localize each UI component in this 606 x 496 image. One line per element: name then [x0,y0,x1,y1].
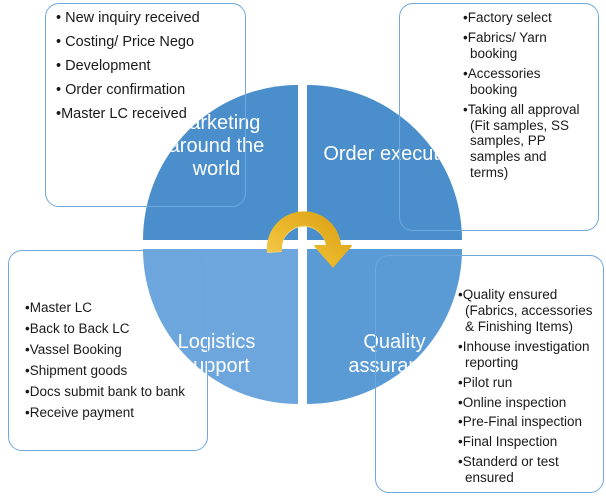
list-item: •Master LC [25,300,199,316]
callout-logistics-support[interactable]: •Master LC •Back to Back LC •Vassel Book… [8,250,208,451]
list-item: •Shipment goods [25,363,199,379]
list-item: •Standerd or test ensured [458,454,595,486]
list-item: • Costing/ Price Nego [56,34,237,51]
callout-logistics-support-list: •Master LC •Back to Back LC •Vassel Book… [9,251,207,421]
callout-quality-assurance-list: •Quality ensured (Fabrics, accessories &… [376,256,603,486]
list-item: •Taking all approval (Fit samples, SS sa… [463,102,588,182]
callout-marketing[interactable]: • New inquiry received • Costing/ Price … [45,3,246,207]
list-item: •Vassel Booking [25,342,199,358]
list-item: • Order confirmation [56,82,237,99]
list-item: • New inquiry received [56,10,237,27]
list-item: •Fabrics/ Yarn booking [463,30,588,62]
diagram-canvas: Marketing around the world Order executi… [0,0,606,496]
list-item: •Final Inspection [458,434,595,450]
list-item: •Accessories booking [463,66,588,98]
circular-arrows-icon [256,196,352,292]
list-item: •Quality ensured (Fabrics, accessories &… [458,287,595,335]
callout-order-execution[interactable]: •Factory select •Fabrics/ Yarn booking •… [399,3,599,231]
list-item: •Receive payment [25,405,199,421]
list-item: •Factory select [463,10,588,26]
list-item: •Pre-Final inspection [458,414,595,430]
list-item: • Development [56,58,237,75]
callout-order-execution-list: •Factory select •Fabrics/ Yarn booking •… [400,4,598,181]
list-item: •Docs submit bank to bank [25,384,199,400]
list-item: •Inhouse investigation reporting [458,339,595,371]
callout-marketing-list: • New inquiry received • Costing/ Price … [46,4,245,124]
list-item: •Pilot run [458,375,595,391]
list-item: •Online inspection [458,395,595,411]
list-item: •Back to Back LC [25,321,199,337]
list-item: •Master LC received [56,106,237,123]
callout-quality-assurance[interactable]: •Quality ensured (Fabrics, accessories &… [375,255,604,493]
